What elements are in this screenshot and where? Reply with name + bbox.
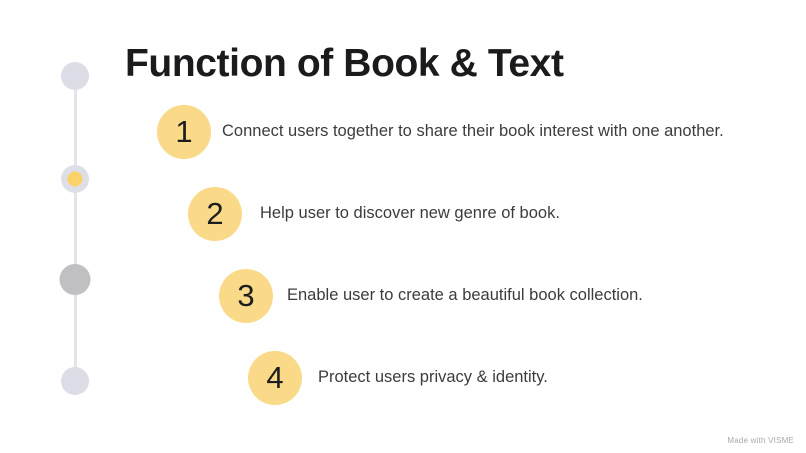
list-item-number: 1 <box>175 116 192 147</box>
list-item-text: Protect users privacy & identity. <box>318 356 548 399</box>
list-item-number: 2 <box>206 198 223 229</box>
list-item-text: Help user to discover new genre of book. <box>260 192 560 235</box>
list-item-number-badge: 2 <box>188 187 242 241</box>
list-item-number: 4 <box>266 362 283 393</box>
numbered-list: 1 Connect users together to share their … <box>0 0 806 453</box>
list-item-text: Connect users together to share their bo… <box>222 110 724 153</box>
list-item-number-badge: 3 <box>219 269 273 323</box>
list-item-number: 3 <box>237 280 254 311</box>
slide-canvas: Function of Book & Text 1 Connect users … <box>0 0 806 453</box>
list-item-number-badge: 4 <box>248 351 302 405</box>
made-with-visme-credit[interactable]: Made with VISME <box>727 436 794 445</box>
list-item-text: Enable user to create a beautiful book c… <box>287 274 643 317</box>
list-item-number-badge: 1 <box>157 105 211 159</box>
